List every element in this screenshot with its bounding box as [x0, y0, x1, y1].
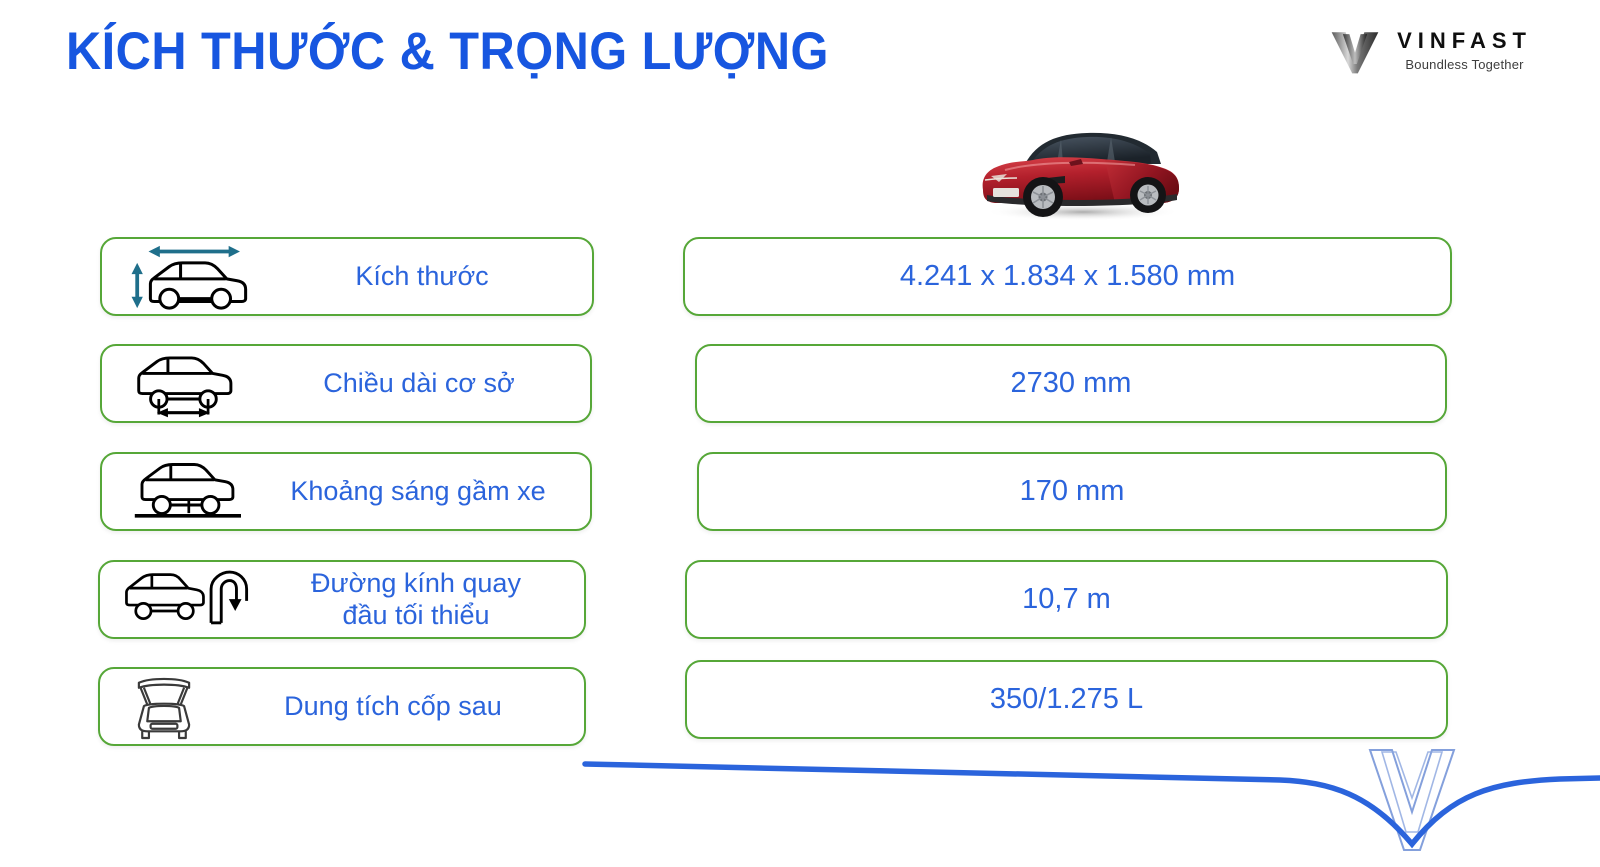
car-ground-clearance-icon: [124, 459, 250, 524]
brand-logo: VINFAST Boundless Together: [1327, 22, 1532, 78]
brand-wordmark: VINFAST Boundless Together: [1397, 28, 1532, 72]
spec-label-text: Khoảng sáng gầm xe: [260, 476, 590, 508]
spec-label-text: Đường kính quay đầu tối thiểu: [262, 568, 584, 632]
spec-label-box-trunk-capacity[interactable]: Dung tích cốp sau: [98, 667, 586, 746]
page-title: KÍCH THƯỚC & TRỌNG LƯỢNG: [66, 22, 829, 83]
spec-value-box-turning-radius[interactable]: 10,7 m: [685, 560, 1448, 639]
brand-tagline: Boundless Together: [1405, 57, 1523, 72]
spec-label-box-ground-clearance[interactable]: Khoảng sáng gầm xe: [100, 452, 592, 531]
spec-value-box-wheelbase[interactable]: 2730 mm: [695, 344, 1447, 423]
car-wheelbase-icon: [124, 347, 252, 420]
spec-value-box-ground-clearance[interactable]: 170 mm: [697, 452, 1447, 531]
spec-value-text: 170 mm: [1020, 474, 1125, 509]
spec-value-text: 4.241 x 1.834 x 1.580 mm: [900, 259, 1235, 294]
spec-value-text: 2730 mm: [1011, 366, 1132, 401]
spec-label-box-wheelbase[interactable]: Chiều dài cơ sở: [100, 344, 592, 423]
spec-value-box-dimensions[interactable]: 4.241 x 1.834 x 1.580 mm: [683, 237, 1452, 316]
brand-name: VINFAST: [1397, 28, 1532, 54]
vinfast-v-mark-icon: [1327, 22, 1383, 78]
spec-label-box-dimensions[interactable]: Kích thước: [100, 237, 594, 316]
hero-car-image: [965, 112, 1195, 227]
spec-label-text: Kích thước: [266, 261, 592, 293]
spec-label-box-turning-radius[interactable]: Đường kính quay đầu tối thiểu: [98, 560, 586, 639]
spec-value-box-trunk-capacity[interactable]: 350/1.275 L: [685, 660, 1448, 739]
spec-value-text: 10,7 m: [1022, 582, 1111, 617]
car-trunk-capacity-icon: [122, 671, 206, 743]
vinfast-v-swoosh-decoration: [0, 732, 1600, 862]
spec-label-line-2: đầu tối thiểu: [342, 600, 489, 630]
car-turning-radius-icon: [116, 567, 252, 633]
car-dimensions-icon: [124, 240, 256, 314]
spec-label-text: Dung tích cốp sau: [216, 691, 584, 723]
spec-label-line-1: Đường kính quay: [311, 568, 521, 598]
spec-label-text: Chiều dài cơ sở: [262, 368, 590, 400]
spec-value-text: 350/1.275 L: [990, 682, 1143, 717]
